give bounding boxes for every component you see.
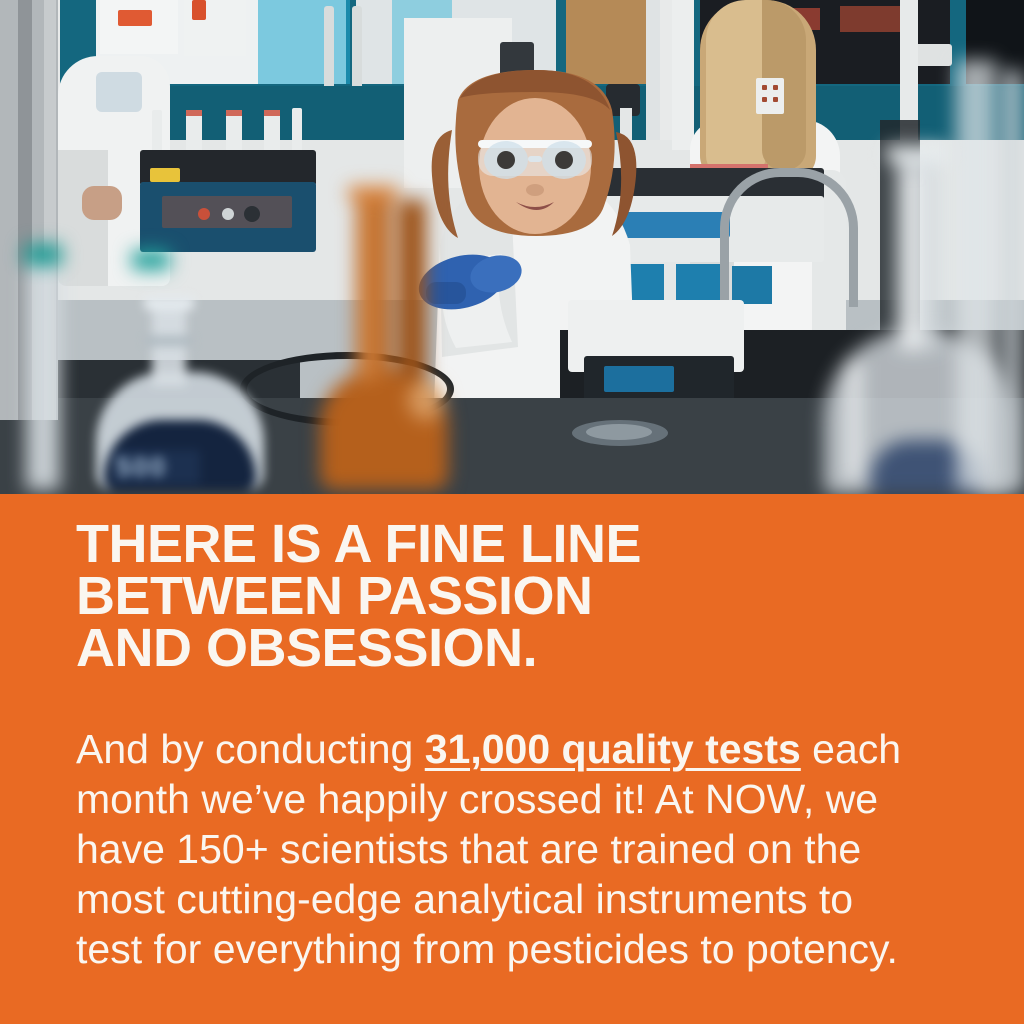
instrument-yellow-label: [150, 168, 180, 182]
headline: THERE IS A FINE LINE BETWEEN PASSION AND…: [76, 518, 956, 674]
headline-line-1: THERE IS A FINE LINE: [76, 518, 956, 570]
lab-photo: 500: [0, 0, 1024, 494]
cabinet-label: [118, 10, 152, 26]
balance-blue-panel: [604, 366, 674, 392]
vial-cap: [186, 110, 202, 116]
cabinet-handle: [324, 6, 334, 92]
instrument-knob: [222, 208, 234, 220]
body-copy: And by conducting 31,000 quality tests e…: [76, 724, 956, 974]
cabinet-box: [100, 0, 178, 54]
instrument-knob: [198, 208, 210, 220]
headline-line-2: BETWEEN PASSION: [76, 570, 956, 622]
body-line-1-post: each: [801, 726, 901, 772]
body-line-4: most cutting-edge analytical instruments…: [76, 874, 956, 924]
scientist-left-hand: [82, 186, 122, 220]
storage-bin: [676, 264, 720, 304]
tube-cap-teal: [132, 250, 170, 270]
scientist-left-collar: [96, 72, 142, 112]
vial-cap: [226, 110, 242, 116]
body-line-1-pre: And by conducting: [76, 726, 425, 772]
cabinet-blue-bottle: [258, 0, 350, 84]
body-line-5: test for everything from pesticides to p…: [76, 924, 956, 974]
vial-cap: [264, 110, 280, 116]
cabinet-divider: [672, 0, 694, 150]
promo-graphic: 500 THERE IS A FINE LINE BETWEEN PASSION…: [0, 0, 1024, 1024]
cabinet-white-item: [912, 44, 952, 66]
quality-tests-emphasis: 31,000 quality tests: [425, 726, 801, 772]
cabinet-divider: [900, 0, 918, 140]
body-line-2: month we’ve happily crossed it! At NOW, …: [76, 774, 956, 824]
cabinet-label: [192, 0, 206, 20]
foreground-cylinder: [956, 60, 996, 490]
foreground-tube: [20, 240, 64, 490]
headline-line-3: AND OBSESSION.: [76, 622, 956, 674]
flask-volume-label: 500: [116, 452, 200, 482]
foreground-flask-amber: [312, 190, 452, 490]
petri-dish-inner: [586, 424, 652, 440]
cabinet-handle: [352, 6, 362, 92]
body-line-1: And by conducting 31,000 quality tests e…: [76, 724, 956, 774]
wall-switch-plate: [756, 78, 784, 114]
body-line-3: have 150+ scientists that are trained on…: [76, 824, 956, 874]
orange-text-panel: THERE IS A FINE LINE BETWEEN PASSION AND…: [0, 494, 1024, 1024]
foreground-cylinder: [1000, 70, 1024, 490]
foreground-flask-500: 500: [96, 300, 264, 490]
instrument-knob: [244, 206, 260, 222]
